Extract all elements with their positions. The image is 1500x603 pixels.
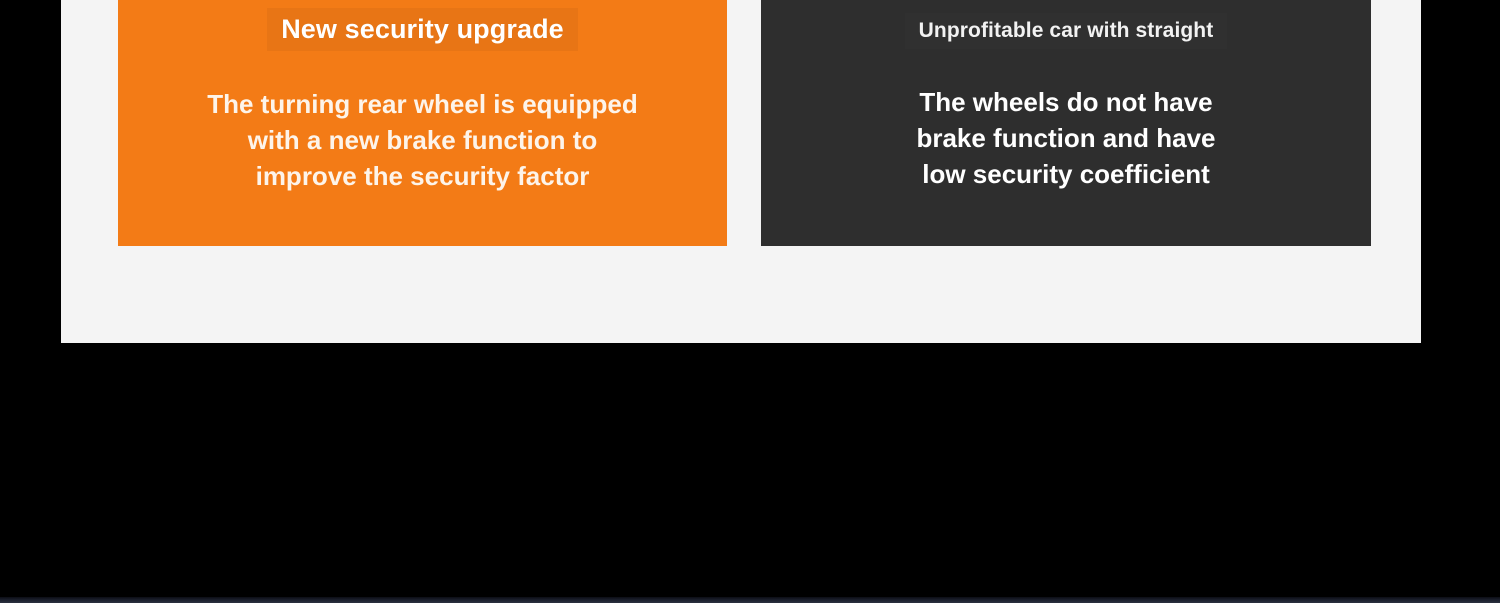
pro-card-title: New security upgrade bbox=[267, 8, 578, 51]
comparison-card-pro[interactable]: New security upgrade The turning rear wh… bbox=[118, 0, 727, 246]
comparison-card-con[interactable]: Unprofitable car with straight The wheel… bbox=[761, 0, 1371, 246]
pro-card-body-line-2: with a new brake function to bbox=[207, 123, 638, 159]
bottom-chrome-strip bbox=[0, 597, 1500, 603]
comparison-row: New security upgrade The turning rear wh… bbox=[118, 0, 1371, 246]
pro-card-body-line-1: The turning rear wheel is equipped bbox=[207, 87, 638, 123]
page-sheet: New security upgrade The turning rear wh… bbox=[61, 0, 1421, 343]
con-card-title: Unprofitable car with straight bbox=[905, 13, 1228, 49]
pro-card-body-line-3: improve the security factor bbox=[207, 159, 638, 195]
con-card-body-line-1: The wheels do not have bbox=[916, 85, 1215, 121]
pro-card-body: The turning rear wheel is equipped with … bbox=[207, 87, 638, 195]
con-card-body-line-2: brake function and have bbox=[916, 121, 1215, 157]
con-card-body-line-3: low security coefficient bbox=[916, 157, 1215, 193]
con-card-body: The wheels do not have brake function an… bbox=[916, 85, 1215, 193]
